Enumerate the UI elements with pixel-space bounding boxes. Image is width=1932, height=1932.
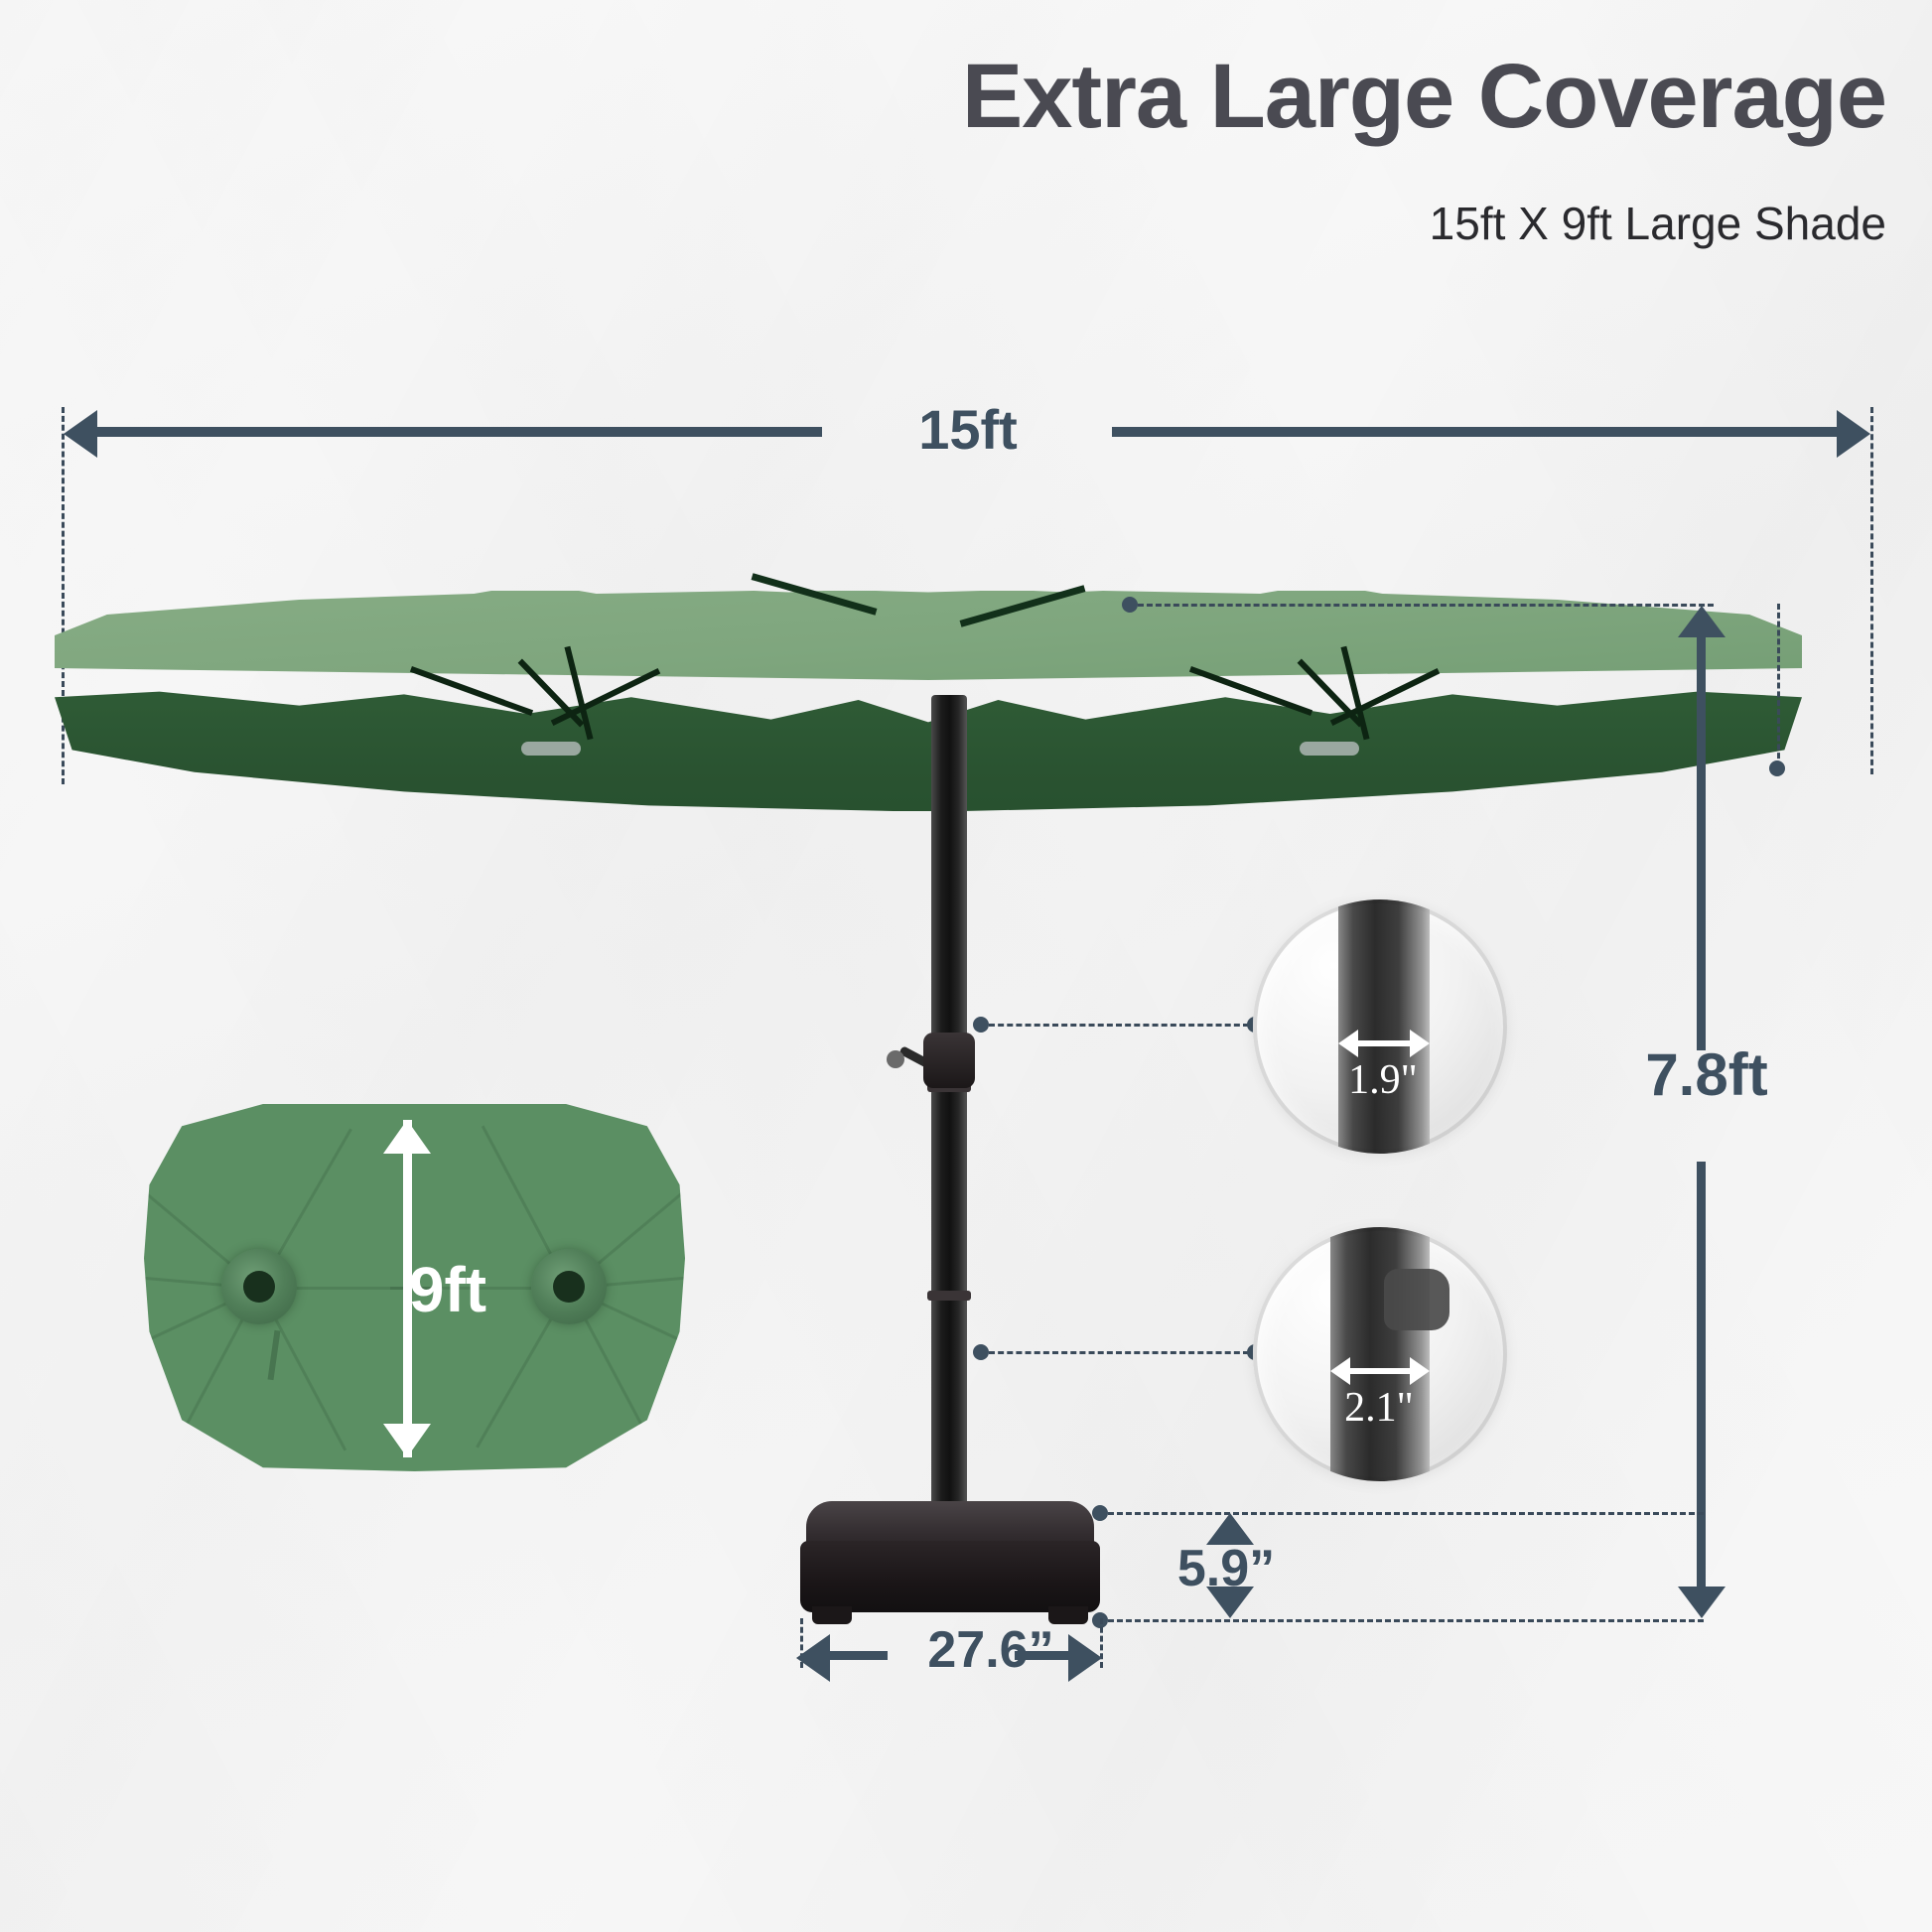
width-line-left	[97, 427, 822, 437]
canopy-top-leader-line	[1138, 604, 1714, 607]
leader-dot-base-top	[1092, 1505, 1108, 1521]
canopy-hub-right-center	[553, 1271, 585, 1303]
depth-dimension-label: 9ft	[344, 1253, 552, 1326]
magnified-pole-lower	[1330, 1227, 1430, 1481]
crank-housing	[923, 1033, 975, 1088]
height-line-upper	[1697, 635, 1706, 1050]
base-width-line-left	[830, 1651, 888, 1660]
center-pole	[931, 695, 967, 1529]
base-height-arrowhead-down	[1206, 1587, 1254, 1618]
height-line-lower	[1697, 1162, 1706, 1588]
umbrella-base-foot	[812, 1606, 852, 1624]
extension-line-right	[1870, 407, 1873, 774]
depth-arrowhead-down	[383, 1424, 431, 1457]
pole-lower-leader-line	[989, 1351, 1249, 1354]
canopy-tie-strap	[268, 1330, 281, 1380]
magnified-pole-upper	[1338, 899, 1430, 1154]
canopy-rib-hub	[1300, 742, 1359, 756]
infographic-canvas: Extra Large Coverage 15ft X 9ft Large Sh…	[0, 0, 1932, 1932]
base-width-label: 27.6”	[882, 1620, 1100, 1680]
magnifier-arrow-line	[1352, 1040, 1416, 1046]
crank-knob	[887, 1050, 904, 1068]
double-sided-canopy	[55, 591, 1802, 819]
canopy-hub-left-center	[243, 1271, 275, 1303]
base-width-arrowhead-left	[796, 1634, 830, 1682]
umbrella-base-body	[800, 1541, 1100, 1612]
page-subtitle: 15ft X 9ft Large Shade	[0, 197, 1886, 250]
pole-upper-leader-line	[989, 1024, 1249, 1027]
magnifier-pole-upper: 1.9"	[1253, 899, 1507, 1154]
magnifier-arrowhead-right	[1410, 1030, 1430, 1057]
pole-upper-diameter-label: 1.9"	[1318, 1056, 1448, 1104]
depth-arrowhead-up	[383, 1120, 431, 1154]
base-width-line-right	[1015, 1651, 1072, 1660]
leader-dot-canopy-top	[1122, 597, 1138, 613]
base-width-arrowhead-right	[1068, 1634, 1102, 1682]
height-arrowhead-up	[1678, 606, 1725, 637]
pole-lower-diameter-label: 2.1"	[1314, 1384, 1444, 1432]
width-line-right	[1112, 427, 1839, 437]
canopy-rib-hub	[521, 742, 581, 756]
magnifier-arrow-line	[1344, 1368, 1416, 1374]
magnified-crank-knob	[1384, 1269, 1449, 1330]
base-bottom-leader-line	[1108, 1619, 1704, 1622]
width-dimension-label: 15ft	[864, 397, 1072, 462]
leader-dot-pole-upper	[973, 1017, 989, 1033]
canopy-underside	[55, 686, 1802, 825]
leader-dot-canopy-right	[1769, 760, 1785, 776]
height-arrowhead-down	[1678, 1587, 1725, 1618]
page-title: Extra Large Coverage	[0, 48, 1886, 146]
magnifier-pole-lower: 2.1"	[1253, 1227, 1507, 1481]
width-arrowhead-right	[1837, 410, 1870, 458]
pole-joint-ring	[927, 1291, 971, 1301]
width-arrowhead-left	[64, 410, 97, 458]
magnifier-arrowhead-right	[1410, 1357, 1430, 1385]
canopy-right-extension	[1777, 604, 1780, 767]
base-top-leader-line	[1108, 1512, 1704, 1515]
height-dimension-label: 7.8ft	[1592, 1040, 1821, 1109]
leader-dot-pole-lower	[973, 1344, 989, 1360]
